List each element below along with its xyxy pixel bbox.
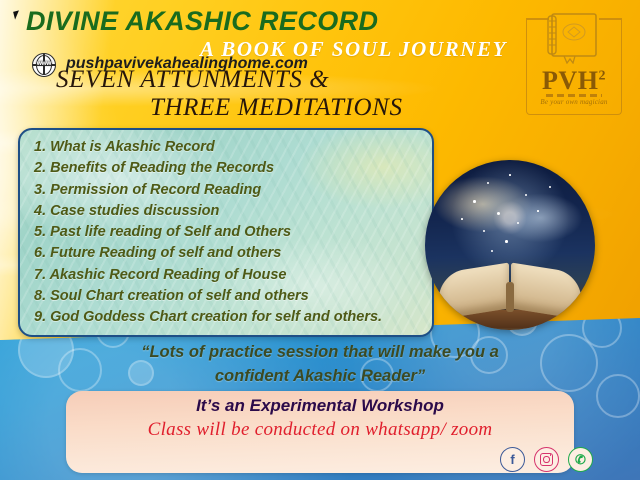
curriculum-panel: 1. What is Akashic Record 2. Benefits of… [18, 128, 434, 337]
logo-name: PVH [542, 66, 598, 95]
headline-line-2: THREE MEDITATIONS [150, 94, 403, 122]
whatsapp-icon[interactable]: ✆ [568, 447, 593, 472]
book-photo [425, 160, 595, 330]
quote-line-2: confident Akashic Reader” [0, 364, 640, 388]
instagram-glyph [540, 453, 553, 466]
list-item: 8. Soul Chart creation of self and other… [34, 286, 426, 307]
globe-www-label: www [33, 60, 55, 67]
instagram-icon[interactable] [534, 447, 559, 472]
list-item: 5. Past life reading of Self and Others [34, 222, 426, 243]
quote-line-1: “Lots of practice session that will make… [0, 340, 640, 364]
list-item: 1. What is Akashic Record [34, 137, 426, 158]
callout-card: It’s an Experimental Workshop Class will… [66, 391, 574, 473]
list-item: 9. God Goddess Chart creation for self a… [34, 307, 426, 328]
book-spine [506, 282, 514, 312]
curriculum-list: 1. What is Akashic Record 2. Benefits of… [34, 137, 426, 329]
globe-icon: www [32, 53, 56, 77]
list-item: 4. Case studies discussion [34, 201, 426, 222]
website-link[interactable]: pushpavivekahealinghome.com [66, 55, 308, 73]
callout-subtext: Class will be conducted on whatsapp/ zoo… [66, 419, 574, 441]
flyer-poster: DIVINE AKASHIC RECORD A BOOK OF SOUL JOU… [0, 0, 640, 480]
book-icon [542, 10, 604, 64]
logo-wordmark: PVH2 [520, 66, 628, 96]
facebook-icon[interactable]: f [500, 447, 525, 472]
logo-divider [546, 94, 602, 97]
list-item: 7. Akashic Record Reading of House [34, 265, 426, 286]
list-item: 2. Benefits of Reading the Records [34, 158, 426, 179]
brand-logo: PVH2 Be your own magician [520, 4, 628, 120]
testimonial-quote: “Lots of practice session that will make… [0, 340, 640, 388]
list-item: 6. Future Reading of self and others [34, 243, 426, 264]
open-book-illustration [433, 256, 587, 314]
social-links: f ✆ [500, 447, 593, 472]
logo-superscript: 2 [598, 68, 606, 83]
page-title: DIVINE AKASHIC RECORD [26, 6, 378, 37]
list-item: 3. Permission of Record Reading [34, 180, 426, 201]
logo-tagline: Be your own magician [520, 98, 628, 106]
callout-heading: It’s an Experimental Workshop [66, 396, 574, 416]
